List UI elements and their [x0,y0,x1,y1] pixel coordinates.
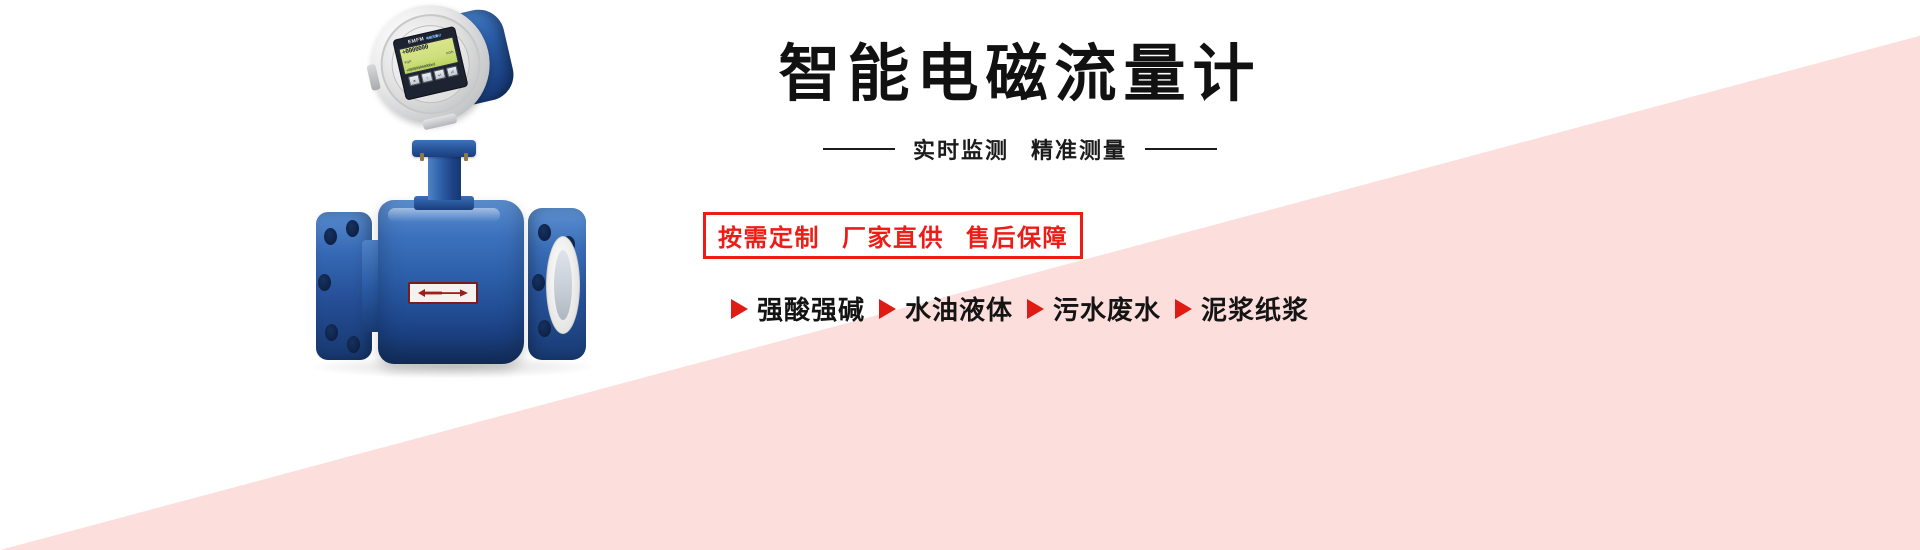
key-back[interactable]: ⏎ [446,65,459,77]
subtitle-part-2: 精准测量 [1031,138,1127,163]
feature-item: 水油液体 [879,290,1013,327]
banner-subtitle: 实时监测精准测量 [913,133,1127,165]
key-up[interactable]: ↑ [421,71,434,83]
feature-item: 强酸强碱 [731,290,865,327]
converter-head: EMFM 电磁流量计 +0000000 FGP m3/h +0000000000… [360,0,514,156]
application-feature-list: 强酸强碱 水油液体 污水废水 泥浆纸浆 [610,290,1430,327]
key-menu[interactable]: ≡ [408,74,421,86]
flange-bolt-hole [324,228,337,245]
service-item-2: 厂家直供 [842,225,944,252]
feature-label: 泥浆纸浆 [1201,290,1309,327]
service-highlight-text: 按需定制厂家直供售后保障 [718,218,1068,253]
flange-bolt-hole [538,320,551,337]
triangle-right-icon [1175,299,1192,319]
flange-bolt-hole [532,274,545,291]
feature-item: 污水废水 [1027,290,1161,327]
flange-bolt-hole [318,274,331,291]
banner-title: 智能电磁流量计 [620,40,1420,110]
flow-direction-plate [408,282,478,304]
flange-bolt-hole [346,220,359,237]
pipe-bore [554,250,572,320]
feature-label: 水油液体 [905,290,1013,327]
sensor-body-highlight [388,208,500,222]
feature-label: 强酸强碱 [757,290,865,327]
triangle-right-icon [1027,299,1044,319]
subtitle-part-1: 实时监测 [913,138,1009,163]
flange-bolt-hole [347,336,360,353]
subtitle-rule-right [1145,148,1217,150]
subtitle-rule-left [823,148,895,150]
triangle-right-icon [879,299,896,319]
flowmeter-product-image: EMFM 电磁流量计 +0000000 FGP m3/h +0000000000… [300,4,640,424]
feature-item: 泥浆纸浆 [1175,290,1309,327]
flange-bolt-hole [325,324,338,341]
banner-subtitle-row: 实时监测精准测量 [620,133,1420,165]
banner-copy: 智能电磁流量计 实时监测精准测量 按需定制厂家直供售后保障 强酸强碱 水油液体 [620,0,1420,550]
triangle-right-icon [731,299,748,319]
flow-direction-arrow-icon [416,287,470,299]
service-highlight-box: 按需定制厂家直供售后保障 [703,212,1083,259]
service-item-3: 售后保障 [966,225,1068,252]
product-banner: EMFM 电磁流量计 +0000000 FGP m3/h +0000000000… [0,0,1920,550]
feature-label: 污水废水 [1053,290,1161,327]
converter-neck [428,154,461,200]
key-enter[interactable]: ↵ [433,68,446,80]
flange-bolt-hole [538,224,551,241]
lcd-unit-label: m3/h [445,49,453,55]
lcd-mode-label: FGP [404,59,412,64]
service-item-1: 按需定制 [718,225,820,252]
